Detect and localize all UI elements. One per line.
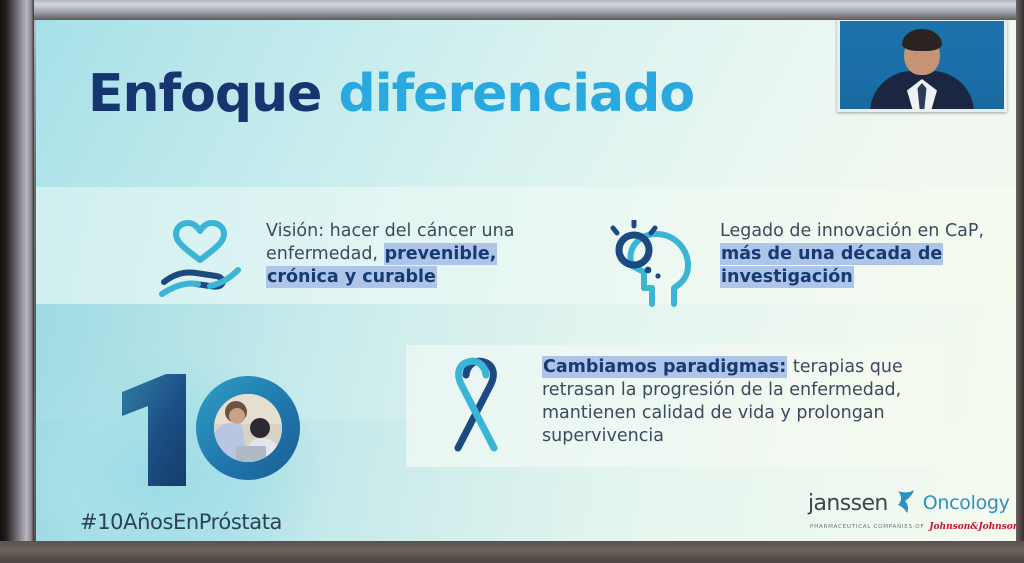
janssen-tagline: PHARMACEUTICAL COMPANIES OF xyxy=(810,524,924,530)
anniversary-logo xyxy=(108,372,330,492)
frame-top-bezel xyxy=(0,0,1024,20)
bullet-item-legacy: Legado de innovación en CaP, más de una … xyxy=(608,220,1008,313)
slide-title: Enfoque diferenciado xyxy=(88,64,768,126)
paradigm-text-highlight: Cambiamos paradigmas: xyxy=(542,356,787,378)
slide-title-part2: diferenciado xyxy=(339,64,695,124)
janssen-logo-row: janssen Oncology xyxy=(808,490,994,516)
heart-in-hand-icon xyxy=(154,220,246,309)
awareness-ribbon-icon xyxy=(436,356,516,457)
slide-title-part1: Enfoque xyxy=(88,64,321,124)
bullet-item-legacy-text: Legado de innovación en CaP, más de una … xyxy=(720,220,990,289)
presenter-video-overlay[interactable] xyxy=(837,20,1007,112)
janssen-oncology-logo: janssen Oncology PHARMACEUTICAL COMPANIE… xyxy=(808,490,994,538)
johnson-and-johnson-wordmark: Johnson&Johnson xyxy=(929,522,1016,532)
janssen-figure-icon xyxy=(896,488,916,519)
frame-bottom-bezel xyxy=(0,541,1024,563)
presentation-slide: Enfoque diferenciado Visión: hacer xyxy=(36,20,1016,541)
head-idea-icon xyxy=(608,220,700,313)
frame-left-bezel xyxy=(0,0,34,563)
bullet-item-vision-text: Visión: hacer del cáncer una enfermedad,… xyxy=(266,220,554,289)
projector-frame: bando Enfoque diferenciado xyxy=(0,0,1024,563)
janssen-parent-row: PHARMACEUTICAL COMPANIES OF Johnson&John… xyxy=(810,522,994,532)
legacy-text-plain: Legado de innovación en CaP, xyxy=(720,221,984,241)
janssen-wordmark: janssen xyxy=(808,491,888,516)
frame-right-bezel xyxy=(1016,0,1024,563)
bullet-item-paradigm: Cambiamos paradigmas: terapias que retra… xyxy=(436,356,956,457)
bullet-item-vision: Visión: hacer del cáncer una enfermedad,… xyxy=(154,220,554,309)
legacy-text-highlight: más de una década de investigación xyxy=(720,243,943,288)
janssen-division-label: Oncology xyxy=(923,492,1010,514)
bullet-item-paradigm-text: Cambiamos paradigmas: terapias que retra… xyxy=(542,356,942,448)
anniversary-hashtag: #10AñosEnPróstata xyxy=(80,510,340,534)
